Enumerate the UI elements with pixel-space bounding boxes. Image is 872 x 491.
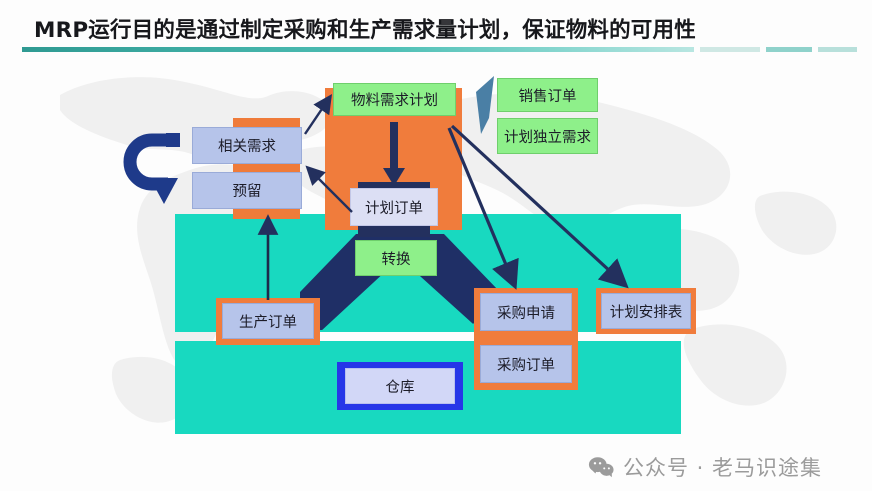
node-mrp[interactable]: 物料需求计划	[333, 83, 456, 116]
node-purchase-requisition[interactable]: 采购申请	[480, 293, 572, 331]
node-sales-order[interactable]: 销售订单	[497, 78, 598, 112]
node-production-order[interactable]: 生产订单	[222, 303, 314, 339]
node-warehouse[interactable]: 仓库	[345, 368, 455, 404]
page-title: MRP运行目的是通过制定采购和生产需求量计划，保证物料的可用性	[34, 13, 696, 44]
node-dependent-requirement[interactable]: 相关需求	[192, 127, 302, 164]
footer-watermark: 公众号 · 老马识途集	[588, 452, 822, 482]
node-planning-schedule[interactable]: 计划安排表	[601, 293, 691, 329]
footer-text: 公众号 · 老马识途集	[623, 452, 822, 482]
accent-bar-reservation-bottom	[233, 208, 300, 219]
title-underline	[22, 47, 857, 52]
title-bar: MRP运行目的是通过制定采购和生产需求量计划，保证物料的可用性	[0, 0, 872, 58]
accent-bar-planned-order-bottom	[358, 226, 430, 237]
node-conversion[interactable]: 转换	[355, 240, 437, 276]
node-planned-independent-requirement[interactable]: 计划独立需求	[497, 118, 598, 154]
wechat-icon	[588, 455, 614, 479]
slide-canvas: MRP运行目的是通过制定采购和生产需求量计划，保证物料的可用性	[0, 0, 872, 491]
node-purchase-order[interactable]: 采购订单	[480, 345, 572, 383]
node-reservation[interactable]: 预留	[192, 172, 302, 209]
node-planned-order[interactable]: 计划订单	[350, 188, 438, 226]
